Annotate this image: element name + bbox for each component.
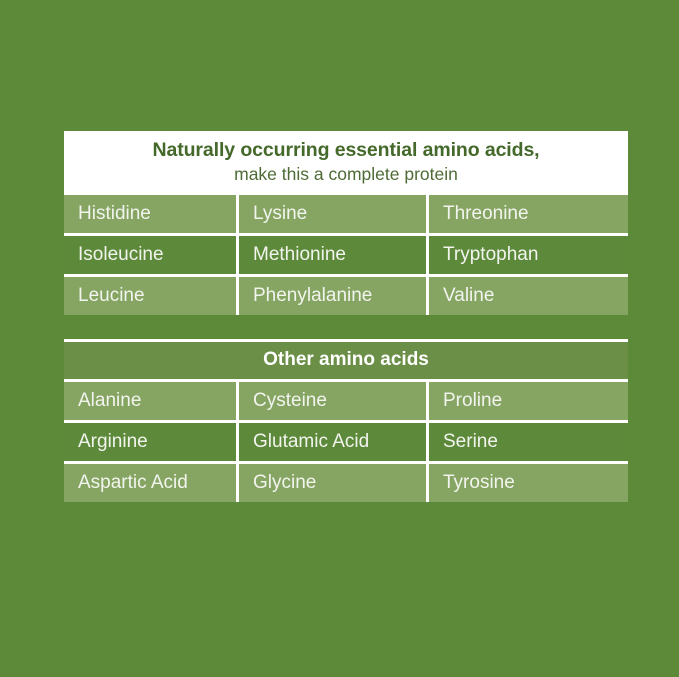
amino-acid-cell: Proline (429, 382, 628, 420)
amino-acid-cell: Methionine (239, 236, 429, 274)
other-table-title: Other amino acids (64, 348, 628, 372)
amino-acid-cell: Phenylalanine (239, 277, 429, 315)
amino-acid-cell: Valine (429, 277, 628, 315)
amino-acid-cell: Glutamic Acid (239, 423, 429, 461)
amino-acid-cell: Isoleucine (64, 236, 239, 274)
table-row: Histidine Lysine Threonine (64, 195, 628, 233)
amino-acid-cell: Tryptophan (429, 236, 628, 274)
other-amino-acids-table: Other amino acids Alanine Cysteine Proli… (64, 339, 628, 502)
amino-acid-cell: Histidine (64, 195, 239, 233)
essential-table-header: Naturally occurring essential amino acid… (64, 131, 628, 195)
table-row: Isoleucine Methionine Tryptophan (64, 233, 628, 274)
table-row: Aspartic Acid Glycine Tyrosine (64, 461, 628, 502)
amino-acid-cell: Leucine (64, 277, 239, 315)
amino-acid-cell: Tyrosine (429, 464, 628, 502)
essential-table-title: Naturally occurring essential amino acid… (64, 138, 628, 162)
amino-acid-cell: Cysteine (239, 382, 429, 420)
other-table-header: Other amino acids (64, 339, 628, 382)
amino-acid-cell: Lysine (239, 195, 429, 233)
amino-acid-cell: Glycine (239, 464, 429, 502)
essential-amino-acids-table: Naturally occurring essential amino acid… (64, 131, 628, 315)
table-row: Arginine Glutamic Acid Serine (64, 420, 628, 461)
amino-acid-cell: Serine (429, 423, 628, 461)
amino-acid-cell: Aspartic Acid (64, 464, 239, 502)
amino-acid-cell: Threonine (429, 195, 628, 233)
essential-table-subtitle: make this a complete protein (64, 163, 628, 186)
table-row: Leucine Phenylalanine Valine (64, 274, 628, 315)
table-row: Alanine Cysteine Proline (64, 382, 628, 420)
amino-acid-cell: Alanine (64, 382, 239, 420)
amino-acid-infographic: Naturally occurring essential amino acid… (0, 0, 679, 677)
amino-acid-cell: Arginine (64, 423, 239, 461)
